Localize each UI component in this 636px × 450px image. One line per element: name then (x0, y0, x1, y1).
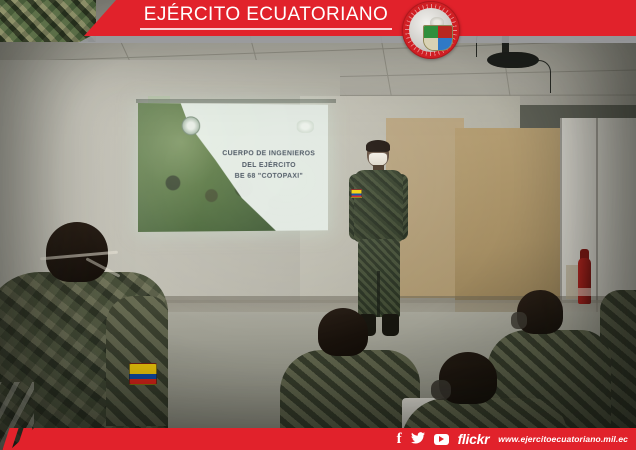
foreground-soldier (0, 222, 176, 450)
face-mask-icon (431, 380, 451, 400)
twitter-icon[interactable] (411, 432, 425, 446)
slide-line-2: DEL EJÉRCITO (215, 159, 322, 171)
photograph: CUERPO DE INGENIEROS DEL EJÉRCITO BE 68 … (0, 0, 636, 450)
projector-cable (534, 60, 551, 93)
slide-logo-left-icon (182, 116, 201, 135)
screenshot-root: CUERPO DE INGENIEROS DEL EJÉRCITO BE 68 … (0, 0, 636, 450)
speaker-torso (354, 170, 403, 242)
facebook-icon[interactable]: f (397, 432, 402, 447)
foreground-soldier-shoulder (106, 296, 168, 426)
slide-line-1: CUERPO DE INGENIEROS (215, 147, 322, 159)
face-mask-icon (511, 312, 527, 329)
footer-bar: f flickr www.ejercitoecuatoriano.mil.ec (0, 428, 636, 450)
slide-title-block: CUERPO DE INGENIEROS DEL EJÉRCITO BE 68 … (215, 147, 322, 182)
slide-logo-right-icon (297, 120, 314, 133)
slide-line-3: BE 68 "COTOPAXI" (215, 170, 322, 182)
website-url[interactable]: www.ejercitoecuatoriano.mil.ec (498, 434, 628, 444)
social-links: f flickr www.ejercitoecuatoriano.mil.ec (397, 428, 628, 450)
ecuador-flag-patch-icon (129, 363, 157, 385)
youtube-icon[interactable] (434, 434, 449, 445)
speaker-hair (366, 140, 390, 152)
ecuador-flag-patch-icon (351, 189, 362, 198)
flickr-link[interactable]: flickr (458, 431, 490, 447)
seated-center-head (318, 308, 368, 356)
projector-mount (502, 32, 509, 54)
ceiling-projector-icon (487, 52, 539, 68)
projection-screen: CUERPO DE INGENIEROS DEL EJÉRCITO BE 68 … (138, 103, 328, 232)
